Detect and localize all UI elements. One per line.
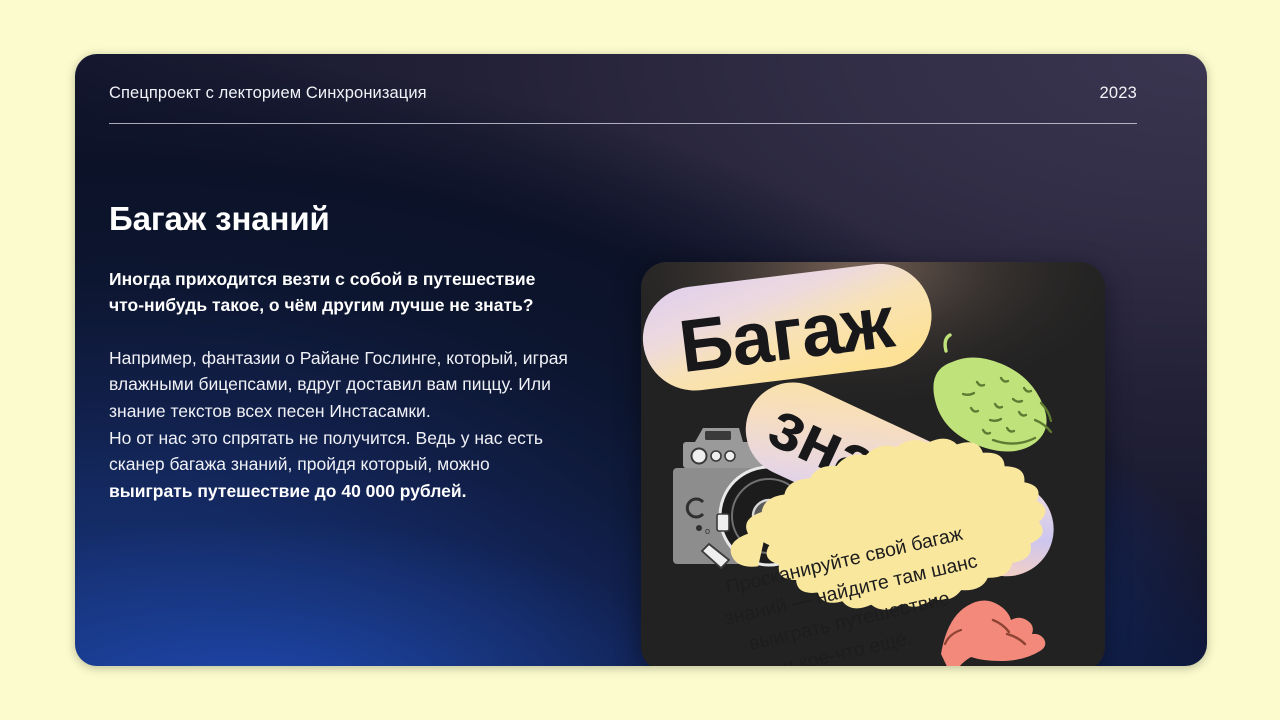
presentation-slide: Спецпроект с лекторием Синхронизация 202… — [75, 54, 1207, 666]
svg-text:o: o — [705, 526, 710, 536]
header-divider — [109, 123, 1137, 124]
header-kicker: Спецпроект с лекторием Синхронизация — [109, 84, 427, 103]
header-row: Спецпроект с лекторием Синхронизация 202… — [109, 84, 1137, 123]
artwork-column: o — [609, 200, 1137, 666]
body-paragraph-2-highlight: выиграть путешествие до 40 000 рублей. — [109, 481, 467, 501]
text-column: Багаж знаний Иногда приходится везти с с… — [109, 200, 609, 666]
body-paragraph-1: Например, фантазии о Райане Гослинге, ко… — [109, 345, 574, 425]
header-year: 2023 — [1099, 84, 1137, 103]
promo-image-card: o — [641, 262, 1105, 666]
promo-artwork: o — [641, 262, 1105, 666]
slide-body: Багаж знаний Иногда приходится везти с с… — [75, 54, 1207, 666]
body-paragraph-2-text: Но от нас это спрятать не получится. Вед… — [109, 428, 543, 475]
lead-paragraph: Иногда приходится везти с собой в путеше… — [109, 266, 539, 319]
slide-header: Спецпроект с лекторием Синхронизация 202… — [75, 54, 1207, 124]
body-paragraph-2: Но от нас это спрятать не получится. Вед… — [109, 425, 574, 505]
page-title: Багаж знаний — [109, 200, 609, 238]
